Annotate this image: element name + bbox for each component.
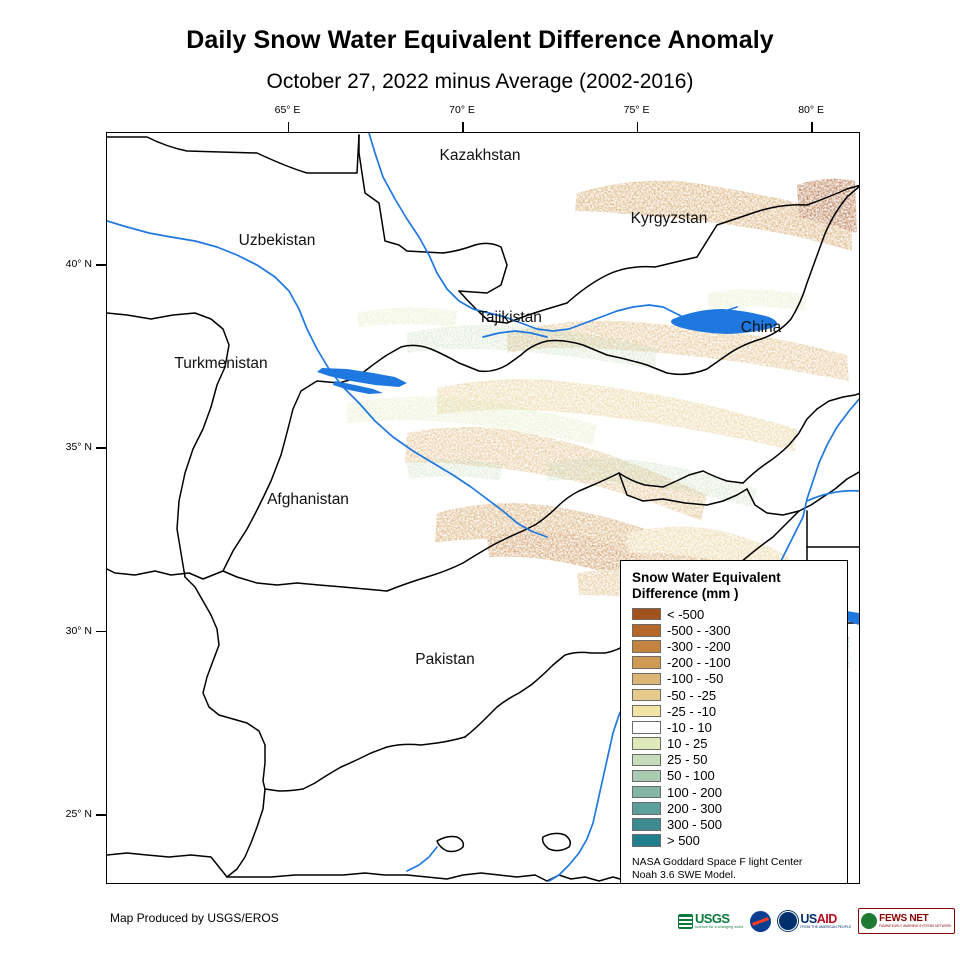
- legend-range-label: > 500: [667, 834, 700, 847]
- country-label-afghanistan: Afghanistan: [267, 491, 349, 509]
- longitude-tick: [811, 122, 813, 132]
- legend-title: Snow Water Equivalent Difference (mm ): [632, 570, 837, 602]
- legend-note-line1: NASA Goddard Space F light Center: [632, 856, 837, 869]
- legend-range-label: 50 - 100: [667, 769, 715, 782]
- legend-range-label: 100 - 200: [667, 786, 722, 799]
- legend-range-label: -50 - -25: [667, 689, 716, 702]
- latitude-tick-label: 35° N: [66, 441, 92, 453]
- legend-row: > 500: [632, 833, 837, 849]
- fews-globe-icon: [861, 913, 877, 929]
- usaid-logo: USAID FROM THE AMERICAN PEOPLE: [778, 910, 851, 932]
- usaid-logo-text: USAID: [800, 914, 851, 925]
- legend-row: -300 - -200: [632, 638, 837, 654]
- longitude-tick-label: 75° E: [624, 104, 650, 116]
- nasa-meatball-icon: [750, 911, 771, 932]
- legend-color-swatch: [632, 737, 661, 750]
- legend-color-swatch: [632, 721, 661, 734]
- usaid-seal-icon: [778, 911, 798, 931]
- legend-range-label: 10 - 25: [667, 737, 707, 750]
- legend-range-label: -100 - -50: [667, 672, 723, 685]
- fews-logo-tagline: FAMINE EARLY WARNING SYSTEMS NETWORK: [879, 924, 951, 928]
- legend-row: 100 - 200: [632, 784, 837, 800]
- map-credit: Map Produced by USGS/EROS: [110, 911, 279, 925]
- nasa-logo: [750, 910, 771, 932]
- latitude-tick-label: 30° N: [66, 625, 92, 637]
- agency-logo-bar: USGS science for a changing world USAID …: [678, 908, 955, 934]
- country-label-tajikistan: Tajikistan: [478, 309, 542, 327]
- legend-color-swatch: [632, 689, 661, 702]
- legend-range-label: -300 - -200: [667, 640, 731, 653]
- legend-range-label: 25 - 50: [667, 753, 707, 766]
- map-legend: Snow Water Equivalent Difference (mm ) <…: [620, 560, 848, 884]
- legend-color-swatch: [632, 673, 661, 686]
- fews-net-logo: FEWS NET FAMINE EARLY WARNING SYSTEMS NE…: [858, 908, 954, 934]
- country-label-china: China: [741, 319, 782, 337]
- legend-row: 50 - 100: [632, 768, 837, 784]
- latitude-tick: [96, 814, 106, 816]
- latitude-tick-label: 25° N: [66, 808, 92, 820]
- legend-color-swatch: [632, 640, 661, 653]
- legend-row: -100 - -50: [632, 671, 837, 687]
- legend-range-label: 200 - 300: [667, 802, 722, 815]
- legend-range-label: 300 - 500: [667, 818, 722, 831]
- legend-range-label: -200 - -100: [667, 656, 731, 669]
- legend-row: -200 - -100: [632, 655, 837, 671]
- legend-title-line1: Snow Water Equivalent: [632, 570, 837, 586]
- legend-row: -25 - -10: [632, 703, 837, 719]
- legend-range-label: < -500: [667, 608, 704, 621]
- page-title: Daily Snow Water Equivalent Difference A…: [0, 26, 960, 55]
- legend-title-line2: Difference (mm ): [632, 586, 837, 602]
- latitude-tick: [96, 447, 106, 449]
- legend-note-line2: Noah 3.6 SWE Model.: [632, 869, 837, 882]
- longitude-tick-label: 65° E: [275, 104, 301, 116]
- latitude-tick: [96, 264, 106, 266]
- legend-color-swatch: [632, 770, 661, 783]
- legend-row: 200 - 300: [632, 800, 837, 816]
- latitude-tick-label: 40° N: [66, 258, 92, 270]
- usgs-logo-tagline: science for a changing world: [695, 925, 743, 929]
- page-subtitle: October 27, 2022 minus Average (2002-201…: [0, 70, 960, 94]
- legend-color-swatch: [632, 608, 661, 621]
- legend-row: 10 - 25: [632, 736, 837, 752]
- usaid-logo-tagline: FROM THE AMERICAN PEOPLE: [800, 925, 851, 929]
- longitude-tick: [288, 122, 290, 132]
- usgs-logo-text: USGS: [695, 913, 743, 925]
- legend-class-list: < -500-500 - -300-300 - -200-200 - -100-…: [632, 606, 837, 849]
- country-label-kazakhstan: Kazakhstan: [440, 147, 521, 165]
- longitude-tick: [637, 122, 639, 132]
- latitude-tick: [96, 631, 106, 633]
- legend-color-swatch: [632, 656, 661, 669]
- country-label-turkmenistan: Turkmenistan: [174, 355, 267, 373]
- country-label-uzbekistan: Uzbekistan: [239, 232, 316, 250]
- legend-color-swatch: [632, 624, 661, 637]
- legend-color-swatch: [632, 802, 661, 815]
- legend-row: -500 - -300: [632, 622, 837, 638]
- legend-source-note: NASA Goddard Space F light Center Noah 3…: [632, 856, 837, 882]
- usgs-wave-icon: [678, 914, 693, 929]
- longitude-tick: [462, 122, 464, 132]
- legend-row: -10 - 10: [632, 719, 837, 735]
- longitude-tick-label: 70° E: [449, 104, 475, 116]
- legend-color-swatch: [632, 754, 661, 767]
- usgs-logo: USGS science for a changing world: [678, 910, 743, 932]
- legend-row: -50 - -25: [632, 687, 837, 703]
- fews-logo-text: FEWS NET: [879, 914, 951, 924]
- country-label-kyrgyzstan: Kyrgyzstan: [631, 210, 708, 228]
- legend-range-label: -10 - 10: [667, 721, 712, 734]
- legend-range-label: -25 - -10: [667, 705, 716, 718]
- legend-row: 300 - 500: [632, 816, 837, 832]
- legend-color-swatch: [632, 705, 661, 718]
- legend-range-label: -500 - -300: [667, 624, 731, 637]
- legend-row: < -500: [632, 606, 837, 622]
- legend-row: 25 - 50: [632, 752, 837, 768]
- legend-color-swatch: [632, 818, 661, 831]
- longitude-tick-label: 80° E: [798, 104, 824, 116]
- legend-color-swatch: [632, 786, 661, 799]
- country-label-pakistan: Pakistan: [415, 651, 474, 669]
- legend-color-swatch: [632, 834, 661, 847]
